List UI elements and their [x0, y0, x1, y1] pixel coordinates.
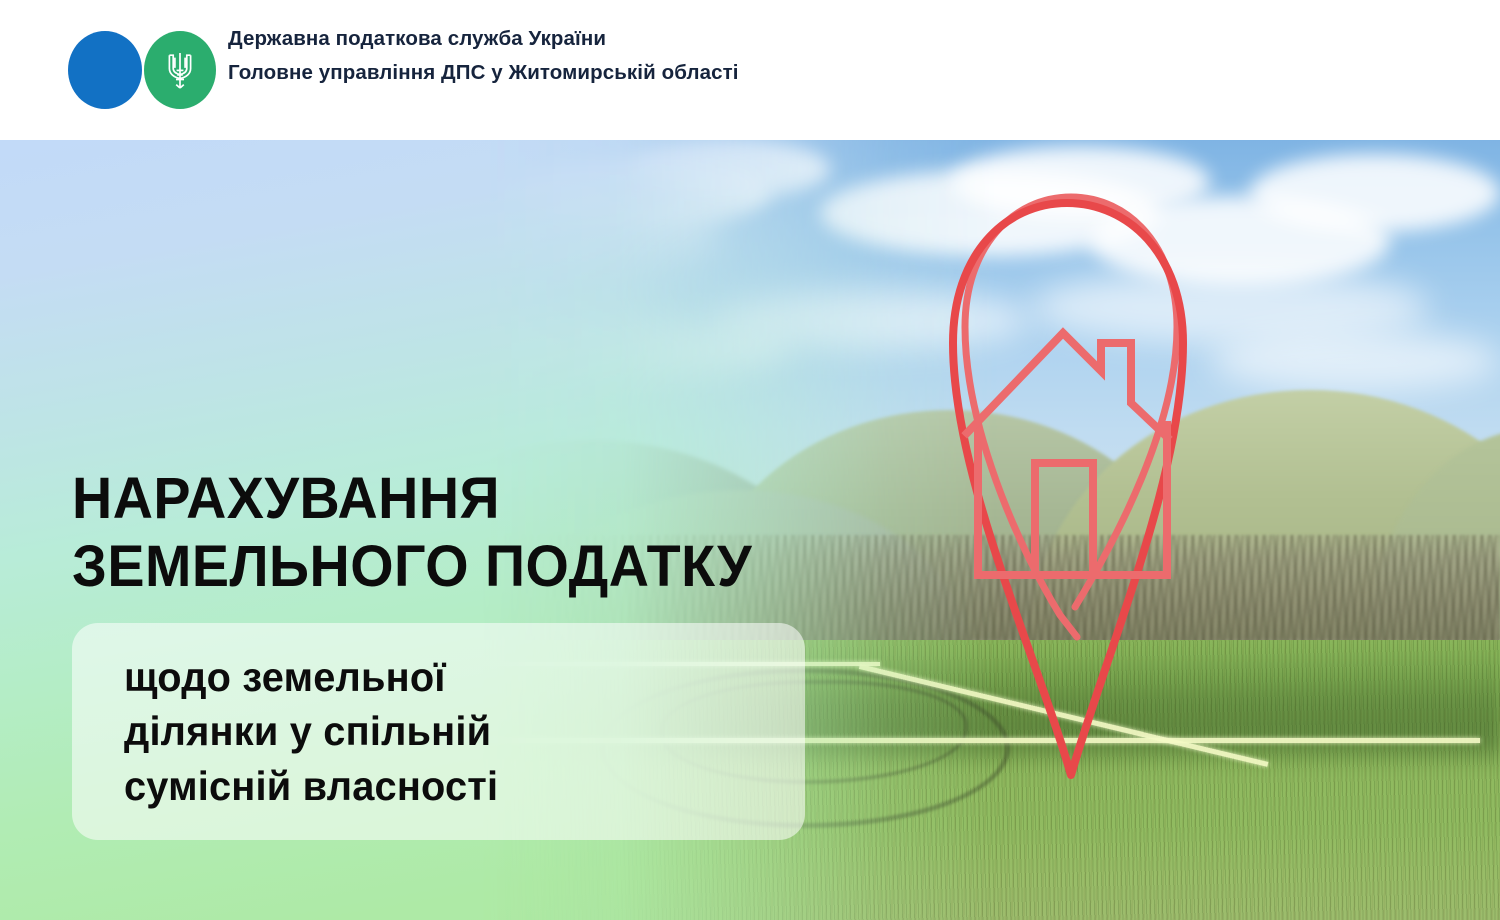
subtitle-card: щодо земельної ділянки у спільній сумісн…: [72, 623, 805, 840]
hero-stage: НАРАХУВАННЯ ЗЕМЕЛЬНОГО ПОДАТКУ щодо земе…: [0, 140, 1500, 920]
poster: Державна податкова служба України Головн…: [0, 0, 1500, 920]
logo-circle-blue-icon: [68, 31, 142, 109]
org-name-line2: Головне управління ДПС у Житомирській об…: [228, 59, 868, 86]
logo-circle-green-icon: [144, 31, 216, 109]
cloud-icon: [1250, 154, 1500, 232]
dps-logo: [68, 31, 216, 109]
org-name-line1: Державна податкова служба України: [228, 29, 868, 50]
subtitle-text: щодо земельної ділянки у спільній сумісн…: [124, 650, 498, 812]
header-org-text: Державна податкова служба України Головн…: [228, 29, 868, 86]
page-title: НАРАХУВАННЯ ЗЕМЕЛЬНОГО ПОДАТКУ: [72, 465, 752, 602]
trident-icon: [163, 48, 197, 92]
map-pin-house-icon: [905, 175, 1235, 815]
header-bar: Державна податкова служба України Головн…: [0, 0, 1500, 140]
